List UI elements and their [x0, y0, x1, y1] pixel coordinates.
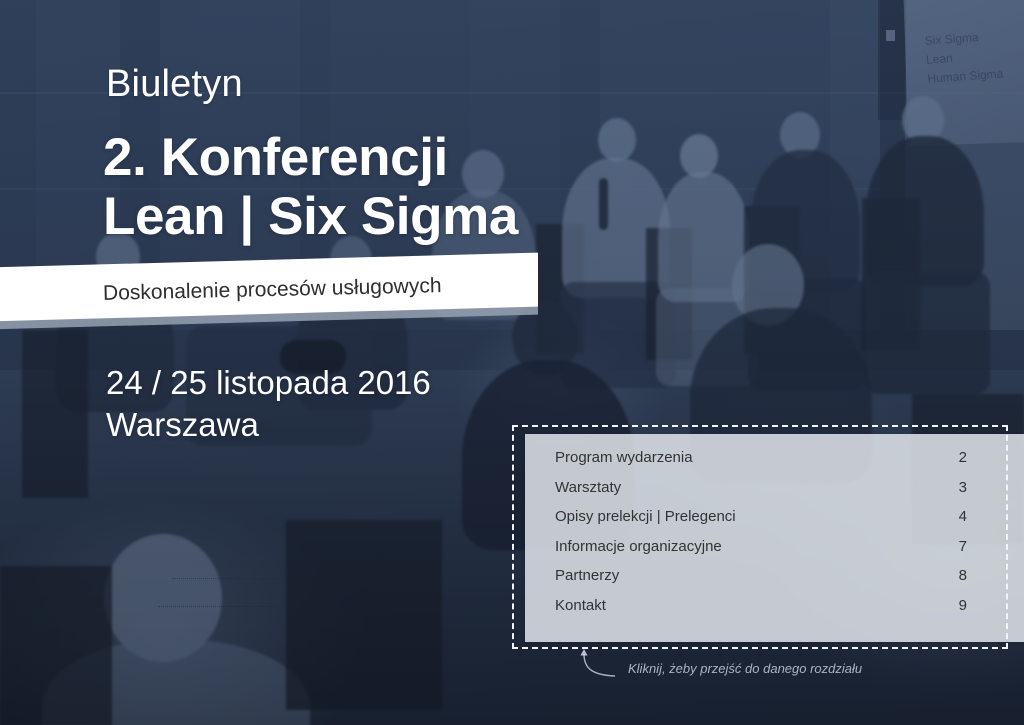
page-eyebrow: Biuletyn: [106, 63, 243, 106]
toc-label: Partnerzy: [555, 567, 619, 584]
toc-page-number: 4: [959, 508, 967, 525]
toc-label: Opisy prelekcji | Prelegenci: [555, 508, 736, 525]
page-title: 2. Konferencji Lean | Six Sigma: [103, 128, 518, 246]
toc-page-number: 7: [959, 538, 967, 555]
toc-page-number: 8: [959, 567, 967, 584]
toc-item-program[interactable]: Program wydarzenia 2: [555, 449, 967, 479]
toc-label: Warsztaty: [555, 479, 621, 496]
event-date-location: 24 / 25 listopada 2016 Warszawa: [106, 362, 431, 446]
toc-hint-caption: Kliknij, żeby przejść do danego rozdział…: [628, 661, 862, 676]
toc-page-number: 2: [959, 449, 967, 466]
subtitle-banner: Doskonalenie procesów usługowych: [0, 258, 546, 326]
page-title-line-1: 2. Konferencji: [103, 128, 448, 187]
toc-item-warsztaty[interactable]: Warsztaty 3: [555, 479, 967, 509]
newsletter-cover: Six Sigma Lean Human Sigma: [0, 0, 1024, 725]
toc-item-opisy-prelekcji[interactable]: Opisy prelekcji | Prelegenci 4: [555, 508, 967, 538]
toc-item-kontakt[interactable]: Kontakt 9: [555, 597, 967, 627]
toc-item-partnerzy[interactable]: Partnerzy 8: [555, 567, 967, 597]
event-city: Warszawa: [106, 404, 431, 446]
toc-label: Informacje organizacyjne: [555, 538, 722, 555]
toc-item-informacje-organizacyjne[interactable]: Informacje organizacyjne 7: [555, 538, 967, 568]
toc-label: Program wydarzenia: [555, 449, 693, 466]
toc-label: Kontakt: [555, 597, 606, 614]
toc-page-number: 9: [959, 597, 967, 614]
page-title-line-2: Lean | Six Sigma: [103, 187, 518, 246]
toc-list: Program wydarzenia 2 Warsztaty 3 Opisy p…: [555, 449, 967, 626]
event-date: 24 / 25 listopada 2016: [106, 364, 431, 401]
toc-page-number: 3: [959, 479, 967, 496]
